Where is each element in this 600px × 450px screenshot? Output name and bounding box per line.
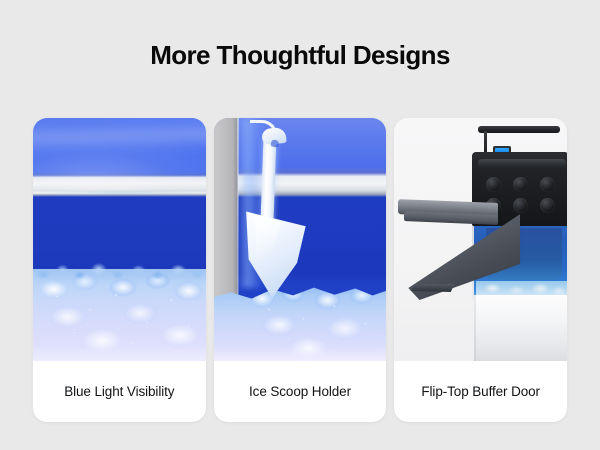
machine-lid-bar bbox=[478, 126, 560, 133]
card-caption-ice-scoop-holder: Ice Scoop Holder bbox=[214, 361, 387, 422]
nozzle-icon bbox=[540, 198, 555, 213]
card-caption-blue-light-visibility: Blue Light Visibility bbox=[33, 361, 206, 422]
ice-bottom-fade bbox=[33, 345, 206, 361]
bin-metal-lip bbox=[33, 191, 206, 194]
ice-pile-graphic bbox=[33, 269, 206, 361]
card-caption-flip-top-buffer-door: Flip-Top Buffer Door bbox=[394, 361, 567, 422]
page-title: More Thoughtful Designs bbox=[0, 36, 600, 74]
blue-light-visibility-image bbox=[33, 118, 206, 361]
scoop-handle bbox=[260, 134, 276, 226]
page-root: More Thoughtful Designs Blue Light Visib… bbox=[0, 0, 600, 450]
nozzle-icon bbox=[513, 177, 528, 192]
ice-scoop-holder-image bbox=[214, 118, 387, 361]
nozzle-icon bbox=[513, 198, 528, 213]
machine-lid-stem bbox=[484, 131, 487, 153]
light-sweep bbox=[33, 120, 206, 152]
machine-cabinet-body bbox=[474, 295, 567, 361]
nozzle-icon bbox=[540, 177, 555, 192]
nozzle-icon bbox=[486, 177, 501, 192]
flip-top-buffer-door-image bbox=[394, 118, 567, 361]
feature-card-ice-scoop-holder[interactable]: Ice Scoop Holder bbox=[214, 118, 387, 422]
feature-card-flip-top-buffer-door[interactable]: Flip-Top Buffer Door bbox=[394, 118, 567, 422]
buffer-door-lip bbox=[410, 284, 454, 292]
feature-card-row: Blue Light Visibility Ice Scoop Holder bbox=[33, 118, 567, 422]
scoop-handle-notch bbox=[270, 139, 279, 147]
feature-card-blue-light-visibility[interactable]: Blue Light Visibility bbox=[33, 118, 206, 422]
dispenser-head-trim bbox=[478, 159, 566, 169]
machine-cabinet-edge bbox=[474, 295, 476, 361]
ice-bottom-fade bbox=[214, 347, 387, 361]
